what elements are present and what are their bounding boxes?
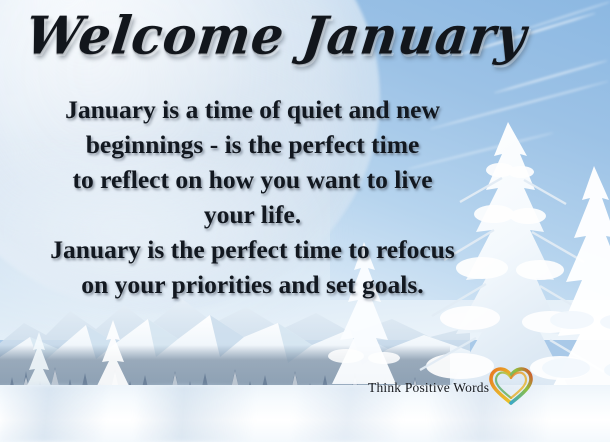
quote-block: January is a time of quiet and new begin… xyxy=(0,92,505,302)
page-title: Welcome January xyxy=(22,7,499,65)
quote-line: on your priorities and set goals. xyxy=(0,267,505,302)
watermark: Think Positive Words xyxy=(368,368,534,407)
quote-line: to reflect on how you want to live xyxy=(0,162,505,197)
winter-quote-card: Welcome January January is a time of qui… xyxy=(0,0,610,442)
frost-tree-right xyxy=(540,160,610,410)
quote-line: January is the perfect time to refocus xyxy=(0,232,505,267)
rainbow-heart-icon xyxy=(488,365,534,407)
quote-line: your life. xyxy=(0,197,505,232)
quote-line: beginnings - is the perfect time xyxy=(0,127,505,162)
watermark-text: Think Positive Words xyxy=(368,380,489,396)
quote-line: January is a time of quiet and new xyxy=(0,92,505,127)
